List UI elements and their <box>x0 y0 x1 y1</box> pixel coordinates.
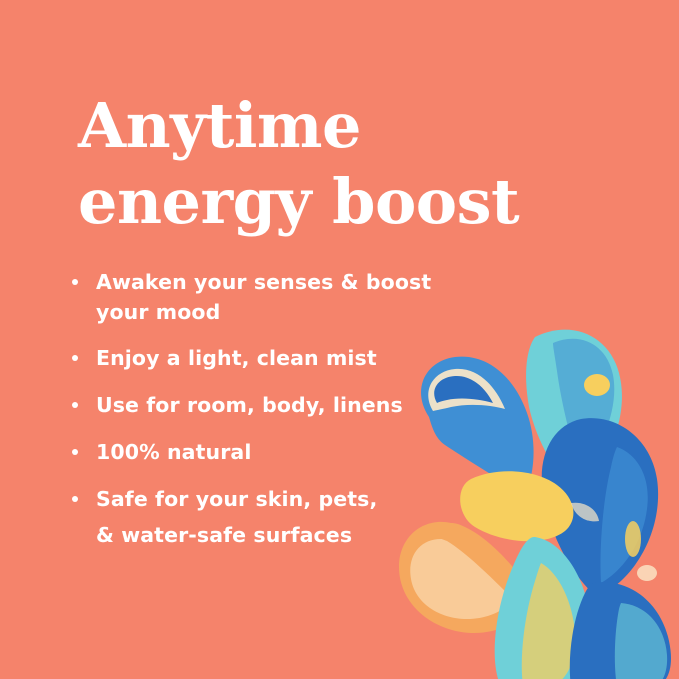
bullet-dot-icon <box>72 279 78 285</box>
accent-mark-1 <box>625 521 641 557</box>
bullet-dot-icon <box>72 402 78 408</box>
headline-line-1: Anytime <box>78 88 638 164</box>
accent-mark-2 <box>637 565 657 581</box>
list-item: Awaken your senses & boost your mood <box>70 268 490 327</box>
product-feature-card: Anytime energy boost Awaken your senses … <box>0 0 679 679</box>
abstract-floral-petals-graphic <box>385 327 679 679</box>
bullet-dot-icon <box>72 355 78 361</box>
petal-top-right-dot <box>584 374 610 396</box>
list-item-label: Awaken your senses & boost <box>96 268 490 298</box>
page-title: Anytime energy boost <box>78 88 638 241</box>
bullet-dot-icon <box>72 496 78 502</box>
headline-line-2: energy boost <box>78 164 638 240</box>
bullet-dot-icon <box>72 449 78 455</box>
list-item-label-cont: your mood <box>96 298 490 328</box>
petal-bottom-right-highlight <box>615 603 667 679</box>
